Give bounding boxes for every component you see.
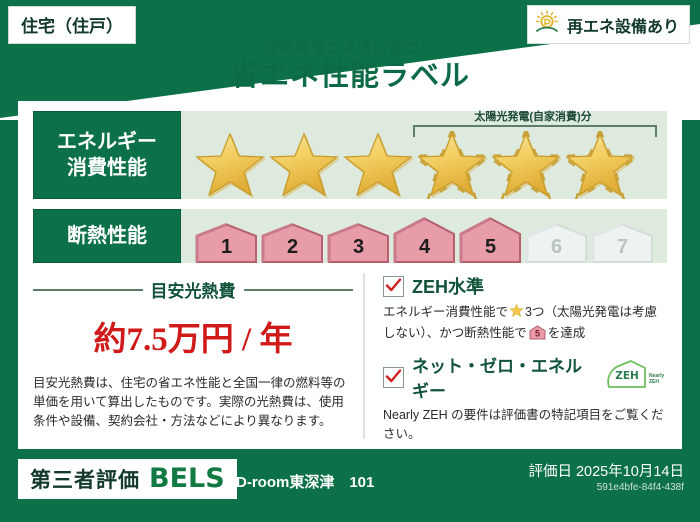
zeh-body-part1: エネルギー消費性能で [383, 305, 508, 319]
net-zero-title: ネット・ゼロ・エネルギー [412, 352, 593, 402]
insulation-grade-active: 1 [195, 223, 258, 263]
lower-section: 目安光熱費 約7.5万円 / 年 目安光熱費は、住宅の省エネ性能と全国一律の燃料… [33, 273, 667, 439]
renewable-energy-badge: 再エネ設備あり [527, 5, 690, 44]
insulation-grade-active: 3 [327, 223, 390, 263]
net-zero-header: ネット・ゼロ・エネルギー ZEH Nearly ZEH [383, 352, 667, 402]
check-item-zeh-level: ZEH水準 エネルギー消費性能で3つ（太陽光発電は考慮しない）、かつ断熱性能で5… [383, 273, 667, 346]
insulation-grade-active: 5 [459, 217, 522, 263]
check-icon [385, 277, 402, 294]
insulation-grade-number: 5 [485, 236, 496, 259]
insulation-grade-number: 2 [287, 236, 298, 259]
energy-star-rating [181, 131, 637, 193]
title-block: 建築物省エネ法に基づく 省エネ性能ラベル [0, 40, 700, 93]
star-icon-filled [269, 131, 341, 193]
svg-text:5: 5 [535, 329, 540, 339]
insulation-grade-number: 7 [617, 236, 628, 259]
star-icon-filled [343, 131, 415, 193]
star-icon-solar [417, 131, 489, 193]
insulation-grade-scale: 1234567 [181, 209, 654, 263]
utility-cost-header: 目安光熱費 [33, 277, 353, 302]
star-icon [509, 307, 524, 321]
insulation-grade-inactive: 7 [591, 223, 654, 263]
zeh-level-checkbox[interactable] [383, 276, 404, 297]
svg-text:ZEH: ZEH [615, 370, 639, 382]
energy-performance-value: 太陽光発電(自家消費)分 [181, 111, 667, 199]
utility-cost-panel: 目安光熱費 約7.5万円 / 年 目安光熱費は、住宅の省エネ性能と全国一律の燃料… [33, 273, 363, 439]
net-zero-body: Nearly ZEH の要件は評価書の特記項目をご覧ください。 [383, 406, 667, 444]
insulation-grade-number: 4 [419, 236, 430, 259]
energy-label-line2: 消費性能 [67, 155, 147, 181]
star-icon-filled [195, 131, 267, 193]
grade-badge-icon: 5 [529, 325, 546, 346]
energy-performance-label: エネルギー 消費性能 [33, 111, 181, 199]
utility-cost-title: 目安光熱費 [151, 277, 236, 302]
renewable-badge-label: 再エネ設備あり [567, 13, 679, 37]
zeh-house-logo-icon: ZEH Nearly ZEH [605, 360, 667, 395]
rule-right [244, 289, 354, 291]
bels-plate: 第三者評価 BELS [18, 459, 237, 499]
category-chip: 住宅（住戸） [8, 6, 136, 44]
insulation-grade-number: 3 [353, 236, 364, 259]
check-item-net-zero-energy: ネット・ゼロ・エネルギー ZEH Nearly ZEH Nearly ZEH の… [383, 352, 667, 444]
evaluation-date-value: 2025年10月14日 [576, 464, 684, 480]
star-icon-solar [491, 131, 563, 193]
insulation-performance-label: 断熱性能 [33, 209, 181, 263]
evaluation-date: 評価日 2025年10月14日 [528, 460, 684, 481]
energy-label-line1: エネルギー [57, 129, 157, 155]
check-icon [385, 368, 402, 385]
net-zero-checkbox[interactable] [383, 367, 404, 388]
insulation-grade-number: 1 [221, 236, 232, 259]
building-name: D-room東深津 101 [236, 471, 374, 492]
footer-bar: 第三者評価 BELS D-room東深津 101 評価日 2025年10月14日… [0, 450, 700, 522]
zeh-level-title: ZEH水準 [412, 273, 484, 299]
svg-text:ZEH: ZEH [649, 379, 659, 385]
insulation-grade-inactive: 6 [525, 223, 588, 263]
zeh-body-part3: を達成 [548, 326, 586, 340]
utility-cost-value: 約7.5万円 / 年 [33, 312, 353, 360]
insulation-grade-number: 6 [551, 236, 562, 259]
zeh-level-header: ZEH水準 [383, 273, 667, 299]
insulation-performance-value: 1234567 [181, 209, 667, 263]
rule-left [33, 289, 143, 291]
zeh-level-body: エネルギー消費性能で3つ（太陽光発電は考慮しない）、かつ断熱性能で5を達成 [383, 303, 667, 346]
bels-logo-text: BELS [149, 463, 225, 494]
energy-performance-row: エネルギー 消費性能 太陽光発電(自家消費)分 [33, 111, 667, 199]
evaluation-date-label: 評価日 [528, 464, 572, 480]
insulation-grade-active: 4 [393, 217, 456, 263]
solar-sun-icon [534, 10, 560, 39]
star-icon-solar [565, 131, 637, 193]
insulation-grade-active: 2 [261, 223, 324, 263]
solar-bracket-label: 太陽光発電(自家消費)分 [413, 108, 653, 124]
evaluation-id: 591e4bfe-84f4-438f [597, 482, 684, 493]
third-party-label: 第三者評価 [30, 464, 140, 494]
page-title: 省エネ性能ラベル [0, 59, 700, 93]
energy-performance-label: 住宅（住戸） 再エネ設備あり 建築物省エネ法に基づく [0, 0, 700, 522]
insulation-performance-row: 断熱性能 1234567 [33, 209, 667, 263]
main-card: エネルギー 消費性能 太陽光発電(自家消費)分 断熱性能 1234567 目安光… [18, 101, 682, 449]
utility-cost-note: 目安光熱費は、住宅の省エネ性能と全国一律の燃料等の単価を用いて算出したものです。… [33, 374, 353, 431]
certification-checks-panel: ZEH水準 エネルギー消費性能で3つ（太陽光発電は考慮しない）、かつ断熱性能で5… [363, 273, 667, 439]
